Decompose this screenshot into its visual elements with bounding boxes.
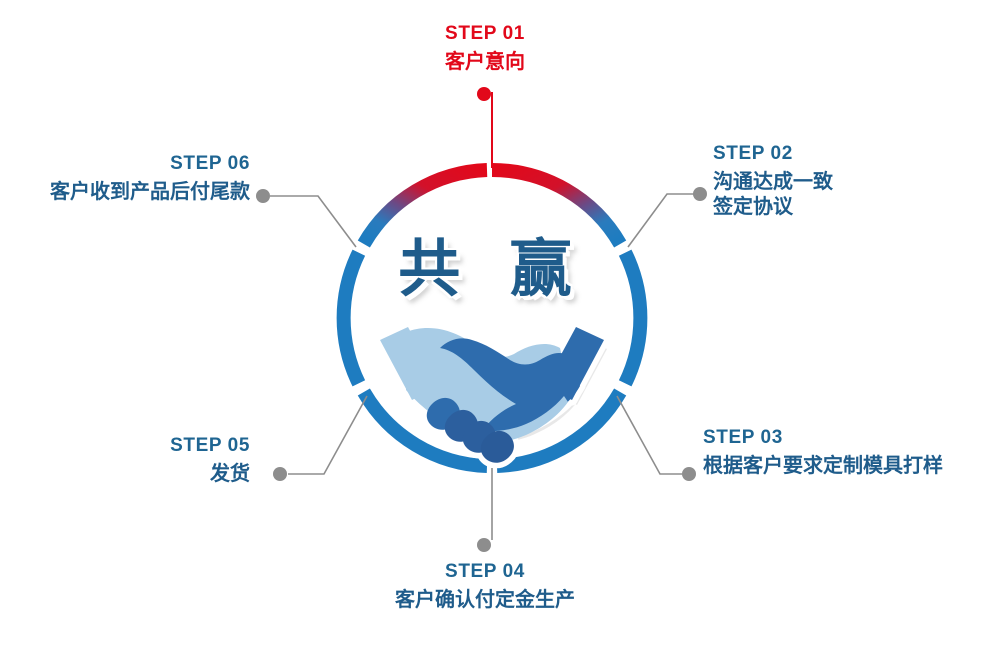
step-number-03: STEP 03	[703, 426, 993, 450]
step-number-04: STEP 04	[355, 560, 615, 584]
connector-dot-step-04	[477, 538, 491, 552]
connector-dot-step-01	[477, 87, 491, 101]
step-label-02[interactable]: STEP 02 沟通达成一致 签定协议	[713, 142, 973, 220]
connector-dot-step-03	[682, 467, 696, 481]
connector-dot-step-02	[693, 187, 707, 201]
step-text-06: 客户收到产品后付尾款	[0, 179, 250, 205]
center-wordmark: 共 赢	[332, 218, 652, 308]
step-label-03[interactable]: STEP 03 根据客户要求定制模具打样	[703, 426, 993, 478]
connector-line-step-05	[288, 396, 367, 474]
step-number-01: STEP 01	[355, 22, 615, 46]
step-number-02: STEP 02	[713, 142, 973, 166]
step-label-06[interactable]: STEP 06 客户收到产品后付尾款	[0, 152, 258, 204]
step-text-04: 客户确认付定金生产	[355, 587, 615, 613]
step-label-04[interactable]: STEP 04 客户确认付定金生产	[355, 560, 615, 612]
connector-dot-step-05	[273, 467, 287, 481]
step-label-05[interactable]: STEP 05 发货	[0, 434, 258, 486]
connector-line-step-03	[617, 396, 682, 474]
step-text-05: 发货	[0, 461, 250, 487]
diagram-canvas: 共 赢 STEP 01 客户意向 STEP 02 沟通达成一致 签定协议 STE…	[0, 0, 1000, 650]
step-number-06: STEP 06	[0, 152, 250, 176]
step-text-03: 根据客户要求定制模具打样	[703, 453, 993, 479]
step-number-05: STEP 05	[0, 434, 250, 458]
step-label-01[interactable]: STEP 01 客户意向	[355, 22, 615, 74]
process-ring	[0, 0, 1000, 650]
step-text-02-line2: 签定协议	[713, 194, 973, 220]
connector-dot-step-06	[256, 189, 270, 203]
step-text-02-line1: 沟通达成一致	[713, 169, 973, 195]
step-text-01: 客户意向	[355, 49, 615, 75]
